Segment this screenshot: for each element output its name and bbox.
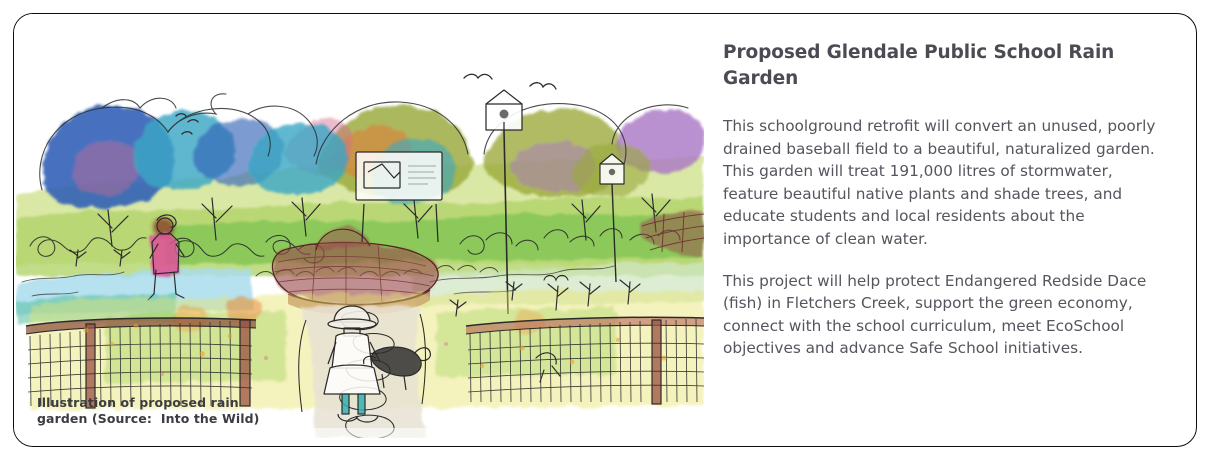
- caption-line-2: garden (Source: Into the Wild): [37, 411, 307, 427]
- text-column: Proposed Glendale Public School Rain Gar…: [704, 14, 1196, 446]
- caption-line-1: Illustration of proposed rain: [37, 395, 307, 411]
- page-title: Proposed Glendale Public School Rain Gar…: [723, 40, 1153, 92]
- info-card: Illustration of proposed rain garden (So…: [13, 13, 1197, 447]
- rain-garden-illustration-svg: [16, 14, 704, 438]
- illustration-column: Illustration of proposed rain garden (So…: [14, 14, 704, 446]
- illustration-caption: Illustration of proposed rain garden (So…: [37, 395, 307, 426]
- illustration-image: [16, 14, 704, 438]
- page-root: Illustration of proposed rain garden (So…: [0, 0, 1218, 463]
- body-paragraph-1: This schoolground retrofit will convert …: [723, 115, 1172, 251]
- body-paragraph-2: This project will help protect Endangere…: [723, 270, 1172, 360]
- card-layout: Illustration of proposed rain garden (So…: [14, 14, 1196, 446]
